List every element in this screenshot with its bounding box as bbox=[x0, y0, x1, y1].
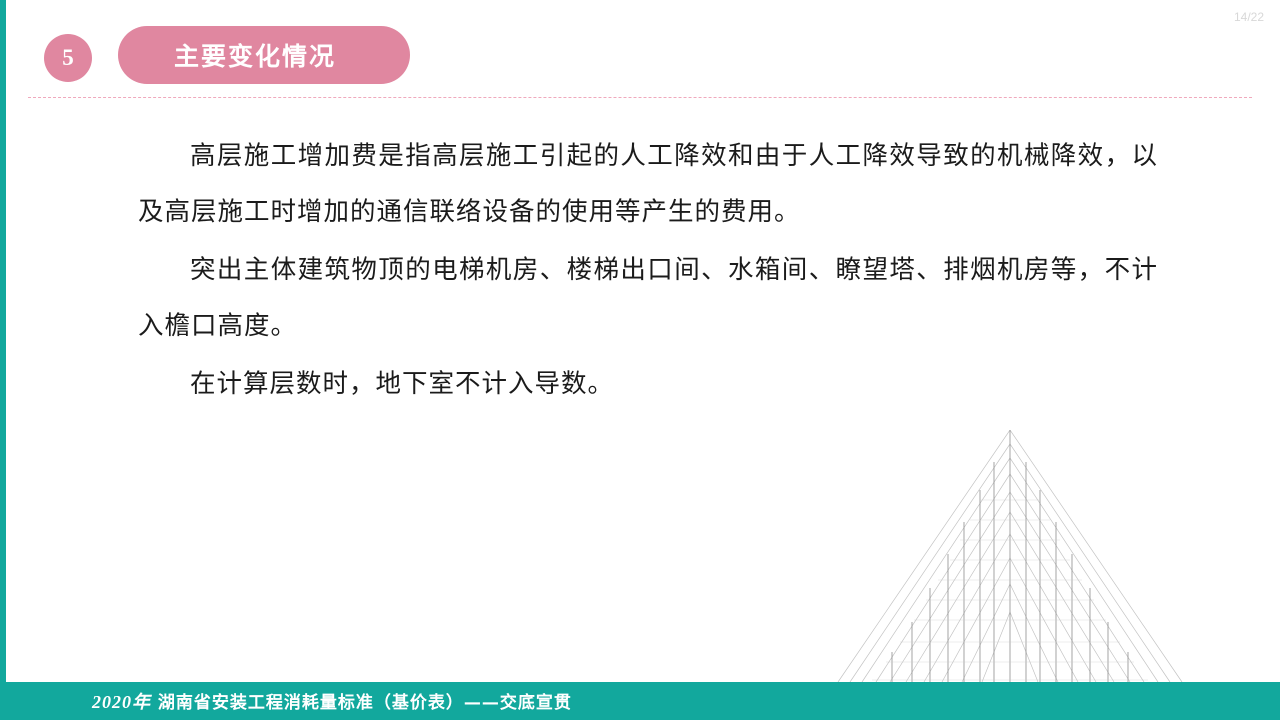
section-title-text: 主要变化情况 bbox=[174, 37, 336, 73]
slide-body: 高层施工增加费是指高层施工引起的人工降效和由于人工降效导致的机械降效，以及高层施… bbox=[138, 128, 1158, 414]
footer-text-wrap: 2020年 湖南省安装工程消耗量标准（基价表）——交底宣贯 bbox=[92, 688, 572, 714]
page-number: 14/22 bbox=[1234, 10, 1264, 24]
slide-footer-content: 2020年 湖南省安装工程消耗量标准（基价表）——交底宣贯 bbox=[0, 682, 1280, 720]
building-line-art-decoration bbox=[830, 430, 1190, 685]
paragraph-1: 高层施工增加费是指高层施工引起的人工降效和由于人工降效导致的机械降效，以及高层施… bbox=[138, 128, 1158, 240]
paragraph-3: 在计算层数时，地下室不计入导数。 bbox=[138, 356, 1158, 412]
footer-title: 湖南省安装工程消耗量标准（基价表）——交底宣贯 bbox=[151, 693, 572, 713]
slide-header: 5 主要变化情况 14/22 bbox=[0, 0, 1280, 96]
slide: 5 主要变化情况 14/22 高层施工增加费是指高层施工引起的人工降效和由于人工… bbox=[0, 0, 1280, 720]
paragraph-2: 突出主体建筑物顶的电梯机房、楼梯出口间、水箱间、瞭望塔、排烟机房等，不计入檐口高… bbox=[138, 242, 1158, 354]
section-title-pill: 主要变化情况 bbox=[118, 26, 410, 84]
left-accent-bar bbox=[0, 0, 6, 682]
header-divider bbox=[28, 97, 1252, 98]
footer-year: 2020年 bbox=[92, 692, 151, 712]
section-number-badge: 5 bbox=[44, 34, 92, 82]
